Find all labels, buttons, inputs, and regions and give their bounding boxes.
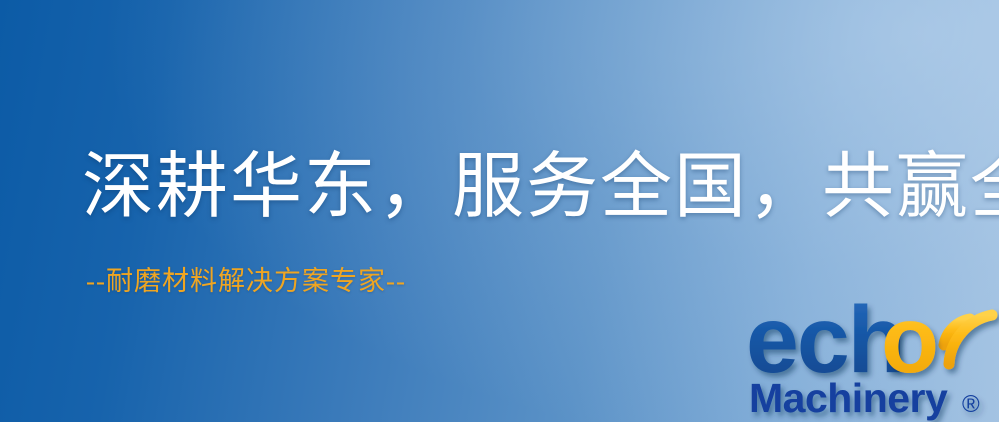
logo-trademark-symbol: ® [962,391,980,418]
echo-machinery-logo[interactable]: ech o Machinery ® [748,288,999,422]
banner-subtitle: --耐磨材料解决方案专家-- [86,268,406,295]
logo-text-machinery: Machinery [749,375,948,421]
signal-arcs-icon [944,315,992,364]
banner-headline: 深耕华东，服务全国，共赢全球 [82,150,999,226]
hero-banner: 深耕华东，服务全国，共赢全球 --耐磨材料解决方案专家-- [0,0,999,422]
